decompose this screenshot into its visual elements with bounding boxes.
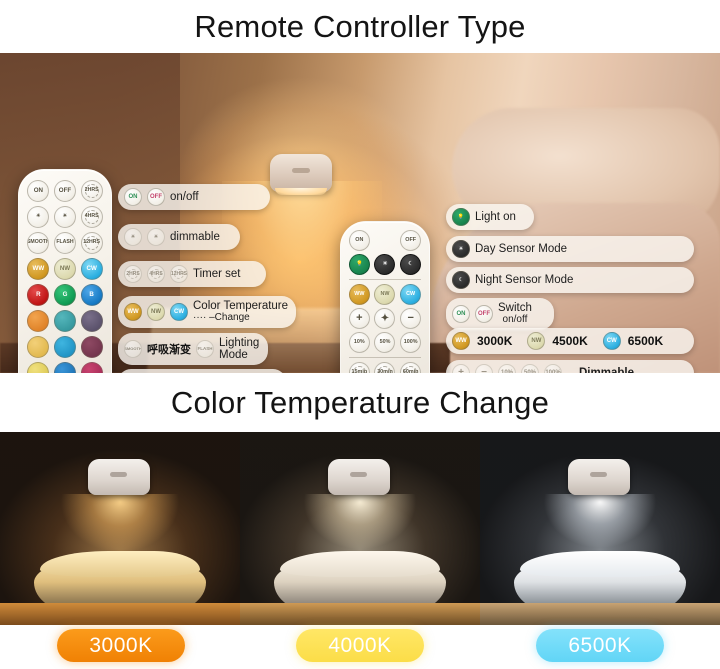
cw-icon: CW	[170, 303, 188, 321]
callout-lighting-mode: SMOOTH 呼吸渐变 FLASH Lighting Mode	[118, 333, 268, 365]
remote-left-key-color-magenta[interactable]	[81, 362, 103, 373]
remote-mid-key-light-on[interactable]: 💡	[349, 254, 370, 275]
remote-left-key-blue[interactable]: B	[81, 284, 103, 306]
night-sensor-icon: ☾	[452, 271, 470, 289]
ct-4500k-label: 4500K	[552, 334, 587, 348]
remote-left-key-smooth[interactable]: SMOOTH	[27, 232, 49, 254]
remote-left-key-brightness-up[interactable]: ☀	[27, 206, 49, 228]
callout-color-temperature-label: Color Temperature	[193, 300, 288, 312]
remote-left-key-nw[interactable]: NW	[54, 258, 76, 280]
remote-mid-key-day-sensor[interactable]: ☀	[374, 254, 395, 275]
ct-6500k-label: 6500K	[628, 334, 663, 348]
dim-plus-icon: +	[452, 364, 470, 373]
ct-cw-icon: CW	[603, 332, 621, 350]
remote-mid-divider-2	[349, 357, 421, 358]
wall-lamp-product	[270, 154, 332, 192]
remote-left-key-color-blue[interactable]	[54, 362, 76, 373]
callout-timer-set: 2HRS 4HRS 12HRS Timer set	[118, 261, 266, 287]
nw-icon: NW	[147, 303, 165, 321]
callout-on-off: ON OFF on/off	[118, 184, 270, 210]
callout-on-off-label: on/off	[170, 191, 199, 203]
remote-left-key-color-teal[interactable]	[54, 310, 76, 332]
callout-dimmable-right-label: Dimmable	[579, 367, 634, 373]
callout-switch-label: Switch	[498, 302, 532, 314]
color-temperature-badges: 3000K 4000K 6500K	[0, 625, 720, 669]
product-infographic: Remote Controller Type ON OFF 2HRS ☀ ☀ 4…	[0, 0, 720, 669]
lamp-vent-icon	[350, 472, 367, 477]
remote-left-key-timer-2hrs[interactable]: 2HRS	[81, 180, 103, 202]
remote-left-key-color-amber[interactable]	[27, 336, 49, 358]
remote-left-key-timer-4hrs[interactable]: 4HRS	[81, 206, 103, 228]
callout-lighting-mode-cn: 呼吸渐变	[147, 341, 191, 357]
callout-lighting-mode-label: Lighting Mode	[219, 337, 259, 361]
smooth-icon: SMOOTH	[124, 340, 142, 358]
remote-left-key-ww[interactable]: WW	[27, 258, 49, 280]
remote-mid-sensor[interactable]: ON OFF 💡 ☀ ☾ WW NW CW + ✦ − 10% 50% 100%…	[340, 221, 430, 373]
remote-left-key-cw[interactable]: CW	[81, 258, 103, 280]
key-off-icon: OFF	[147, 188, 165, 206]
callout-dimmable-label: dimmable	[170, 231, 220, 243]
remote-mid-button-grid: ON OFF 💡 ☀ ☾ WW NW CW + ✦ − 10% 50% 100%…	[348, 230, 422, 373]
remote-mid-key-off[interactable]: OFF	[400, 230, 421, 251]
remote-left-key-flash[interactable]: FLASH	[54, 232, 76, 254]
light-on-icon: 💡	[452, 208, 470, 226]
callout-timer-set-label: Timer set	[193, 268, 241, 280]
remote-mid-key-100pct[interactable]: 100%	[400, 332, 421, 353]
remote-left-button-grid: ON OFF 2HRS ☀ ☀ 4HRS SMOOTH FLASH 12HRS …	[27, 180, 103, 373]
flash-icon: FLASH	[196, 340, 214, 358]
callout-dimmable-right: + − 10% 50% 100% Dimmable	[446, 360, 694, 373]
callout-color-temps: WW 3000K NW 4500K CW 6500K	[446, 328, 694, 354]
scene-4000k-lamp	[328, 459, 390, 495]
callout-light-on: 💡 Light on	[446, 204, 534, 230]
remote-mid-key-ww[interactable]: WW	[349, 284, 370, 305]
remote-left-key-red[interactable]: R	[27, 284, 49, 306]
remote-left-key-color-lemon[interactable]	[27, 362, 49, 373]
timer-12hrs-icon: 12HRS	[170, 265, 188, 283]
scene-3000k	[0, 432, 240, 625]
timer-4hrs-icon: 4HRS	[147, 265, 165, 283]
badge-6500k: 6500K	[536, 629, 664, 662]
callout-day-sensor-mode-label: Day Sensor Mode	[475, 243, 567, 255]
remote-left-key-color-orange[interactable]	[27, 310, 49, 332]
remote-mid-key-star[interactable]: ✦	[374, 308, 395, 329]
scene-6500k	[480, 432, 720, 625]
badge-3000k: 3000K	[57, 629, 185, 662]
remote-left-key-color-cyan[interactable]	[54, 336, 76, 358]
lamp-vent-icon	[110, 472, 127, 477]
callout-night-sensor-mode: ☾ Night Sensor Mode	[446, 267, 694, 293]
scene-6500k-lamp	[568, 459, 630, 495]
color-temperature-scenes	[0, 432, 720, 625]
switch-off-icon: OFF	[475, 305, 493, 323]
callout-switch-labels: Switch on/off	[498, 302, 532, 326]
remote-mid-key-night-sensor[interactable]: ☾	[400, 254, 421, 275]
callout-switch-sublabel: on/off	[503, 314, 528, 326]
callout-color-temperature-sublabel: ···· –Change	[193, 312, 288, 324]
remote-left-key-on[interactable]: ON	[27, 180, 49, 202]
remote-mid-key-10pct[interactable]: 10%	[349, 332, 370, 353]
remote-mid-key-cw[interactable]: CW	[400, 284, 421, 305]
remote-mid-key-timer-60min[interactable]: 60min	[400, 362, 421, 373]
lamp-vent-icon	[590, 472, 607, 477]
dim-10pct-icon: 10%	[498, 364, 516, 373]
remote-left-key-green[interactable]: G	[54, 284, 76, 306]
remote-controller-scene: ON OFF 2HRS ☀ ☀ 4HRS SMOOTH FLASH 12HRS …	[0, 53, 720, 373]
ct-nw-icon: NW	[527, 332, 545, 350]
remote-left-rgb[interactable]: ON OFF 2HRS ☀ ☀ 4HRS SMOOTH FLASH 12HRS …	[18, 169, 112, 373]
brightness-down-icon: ☀	[147, 228, 165, 246]
remote-mid-key-timer-30min[interactable]: 30min	[374, 362, 395, 373]
callout-light-on-label: Light on	[475, 211, 516, 223]
callout-day-sensor-mode: ☀ Day Sensor Mode	[446, 236, 694, 262]
scene-3000k-lamp	[88, 459, 150, 495]
remote-mid-key-nw[interactable]: NW	[374, 284, 395, 305]
callout-night-sensor-mode-label: Night Sensor Mode	[475, 274, 573, 286]
scene-4000k	[240, 432, 480, 625]
callout-color-temperature: WW NW CW Color Temperature ···· –Change	[118, 296, 296, 328]
remote-mid-key-timer-15min[interactable]: 15min	[349, 362, 370, 373]
scene-3000k-desk	[0, 603, 240, 625]
callout-rgb-colors: R G B RGB Colors	[118, 369, 286, 373]
callout-dimmable: ☀ ☀ dimmable	[118, 224, 240, 250]
remote-mid-key-on[interactable]: ON	[349, 230, 370, 251]
remote-mid-spacer	[374, 230, 395, 251]
key-on-icon: ON	[124, 188, 142, 206]
remote-mid-key-50pct[interactable]: 50%	[374, 332, 395, 353]
dim-50pct-icon: 50%	[521, 364, 539, 373]
remote-mid-divider-1	[349, 279, 421, 280]
ct-ww-icon: WW	[452, 332, 470, 350]
section-title-remote-controller-type: Remote Controller Type	[0, 0, 720, 53]
timer-2hrs-icon: 2HRS	[124, 265, 142, 283]
dim-minus-icon: −	[475, 364, 493, 373]
remote-mid-key-plus[interactable]: +	[349, 308, 370, 329]
remote-left-key-color-purple[interactable]	[81, 310, 103, 332]
remote-left-key-brightness-down[interactable]: ☀	[54, 206, 76, 228]
brightness-up-icon: ☀	[124, 228, 142, 246]
ct-3000k-label: 3000K	[477, 334, 512, 348]
remote-left-key-color-plum[interactable]	[81, 336, 103, 358]
scene-6500k-desk	[480, 603, 720, 625]
remote-left-key-off[interactable]: OFF	[54, 180, 76, 202]
section-title-color-temperature-change: Color Temperature Change	[0, 373, 720, 432]
lamp-vent-icon	[292, 168, 310, 173]
day-sensor-icon: ☀	[452, 240, 470, 258]
remote-left-key-timer-12hrs[interactable]: 12HRS	[81, 232, 103, 254]
scene-4000k-desk	[240, 603, 480, 625]
remote-mid-key-minus[interactable]: −	[400, 308, 421, 329]
dim-100pct-icon: 100%	[544, 364, 562, 373]
ww-icon: WW	[124, 303, 142, 321]
badge-4000k: 4000K	[296, 629, 424, 662]
switch-on-icon: ON	[452, 305, 470, 323]
callout-color-temperature-labels: Color Temperature ···· –Change	[193, 300, 288, 324]
callout-switch-on-off: ON OFF Switch on/off	[446, 298, 554, 330]
